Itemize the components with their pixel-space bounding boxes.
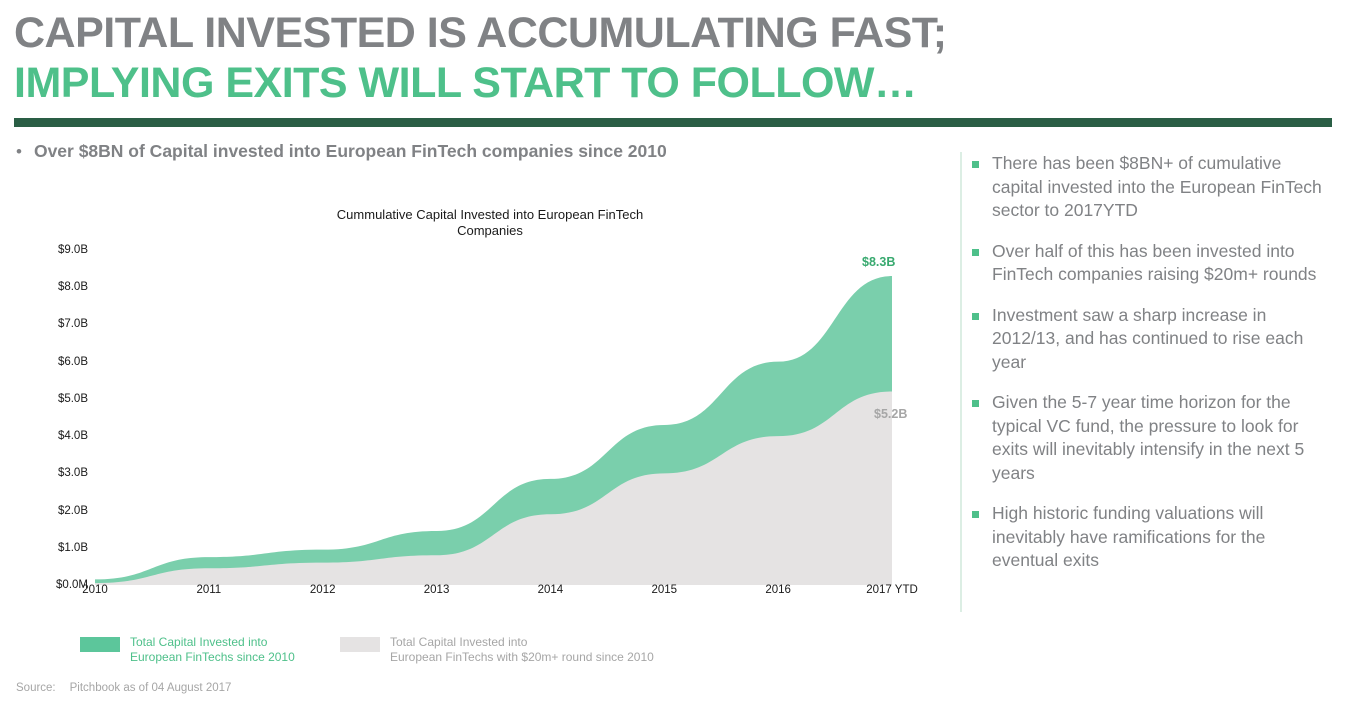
insight-bullet-text: There has been $8BN+ of cumulative capit… bbox=[992, 152, 1334, 223]
chart-title: Cummulative Capital Invested into Europe… bbox=[330, 207, 650, 239]
y-axis-tick-label: $5.0B bbox=[16, 393, 88, 405]
chart-x-axis: 20102011201220132014201520162017 YTD bbox=[95, 583, 892, 607]
legend-swatch-green-icon bbox=[80, 637, 120, 652]
source-text: Pitchbook as of 04 August 2017 bbox=[70, 681, 232, 695]
x-axis-tick-label: 2015 bbox=[651, 583, 677, 597]
y-axis-tick-label: $3.0B bbox=[16, 467, 88, 479]
page-title: CAPITAL INVESTED IS ACCUMULATING FAST; I… bbox=[14, 8, 1334, 108]
legend-label-total-capital: Total Capital Invested into European Fin… bbox=[130, 635, 295, 665]
chart-panel: Cummulative Capital Invested into Europe… bbox=[0, 175, 950, 695]
lead-bullet-text: Over $8BN of Capital invested into Europ… bbox=[34, 140, 667, 162]
legend-item-total-capital: Total Capital Invested into European Fin… bbox=[80, 635, 295, 665]
insight-bullet: Investment saw a sharp increase in 2012/… bbox=[972, 304, 1334, 375]
insight-bullet: Over half of this has been invested into… bbox=[972, 240, 1334, 287]
data-label-large-rounds: $5.2B bbox=[874, 407, 907, 421]
slide: CAPITAL INVESTED IS ACCUMULATING FAST; I… bbox=[0, 0, 1346, 702]
x-axis-tick-label: 2012 bbox=[310, 583, 336, 597]
insight-bullet: High historic funding valuations will in… bbox=[972, 502, 1334, 573]
x-axis-tick-label: 2017 YTD bbox=[866, 583, 918, 597]
y-axis-tick-label: $6.0B bbox=[16, 356, 88, 368]
insight-bullet: Given the 5-7 year time horizon for the … bbox=[972, 391, 1334, 485]
lead-bullet: • Over $8BN of Capital invested into Eur… bbox=[16, 140, 916, 162]
insight-bullet: There has been $8BN+ of cumulative capit… bbox=[972, 152, 1334, 223]
bullet-square-icon bbox=[972, 161, 979, 168]
x-axis-tick-label: 2011 bbox=[196, 583, 221, 597]
title-line-secondary: IMPLYING EXITS WILL START TO FOLLOW… bbox=[14, 58, 1334, 108]
x-axis-tick-label: 2014 bbox=[538, 583, 564, 597]
legend-label-large-rounds: Total Capital Invested into European Fin… bbox=[390, 635, 654, 665]
insights-bullet-list: There has been $8BN+ of cumulative capit… bbox=[972, 152, 1334, 590]
x-axis-tick-label: 2016 bbox=[765, 583, 791, 597]
bullet-square-icon bbox=[972, 511, 979, 518]
source-label: Source: bbox=[16, 681, 56, 695]
insight-bullet-text: Over half of this has been invested into… bbox=[992, 240, 1334, 287]
x-axis-tick-label: 2013 bbox=[424, 583, 450, 597]
chart-plot-area bbox=[95, 250, 892, 585]
bullet-square-icon bbox=[972, 249, 979, 256]
data-label-total-capital: $8.3B bbox=[862, 255, 895, 269]
legend-item-large-rounds: Total Capital Invested into European Fin… bbox=[340, 635, 654, 665]
bullet-square-icon bbox=[972, 400, 979, 407]
y-axis-tick-label: $2.0B bbox=[16, 505, 88, 517]
source-note: Source: Pitchbook as of 04 August 2017 bbox=[16, 681, 231, 695]
y-axis-tick-label: $7.0B bbox=[16, 318, 88, 330]
y-axis-tick-label: $0.0M bbox=[16, 579, 88, 591]
insight-bullet-text: High historic funding valuations will in… bbox=[992, 502, 1334, 573]
x-axis-tick-label: 2010 bbox=[82, 583, 108, 597]
insight-bullet-text: Given the 5-7 year time horizon for the … bbox=[992, 391, 1334, 485]
y-axis-tick-label: $4.0B bbox=[16, 430, 88, 442]
chart-legend: Total Capital Invested into European Fin… bbox=[0, 635, 950, 685]
y-axis-tick-label: $8.0B bbox=[16, 281, 88, 293]
y-axis-tick-label: $9.0B bbox=[16, 244, 88, 256]
bullet-dot-icon: • bbox=[16, 142, 22, 162]
title-divider-rule bbox=[14, 118, 1332, 127]
legend-swatch-gray-icon bbox=[340, 637, 380, 652]
vertical-divider bbox=[960, 152, 962, 612]
bullet-square-icon bbox=[972, 313, 979, 320]
area-chart-svg bbox=[95, 250, 892, 585]
y-axis-tick-label: $1.0B bbox=[16, 542, 88, 554]
title-line-primary: CAPITAL INVESTED IS ACCUMULATING FAST; bbox=[14, 8, 1334, 58]
chart-y-axis: $9.0B$8.0B$7.0B$6.0B$5.0B$4.0B$3.0B$2.0B… bbox=[0, 250, 88, 590]
insight-bullet-text: Investment saw a sharp increase in 2012/… bbox=[992, 304, 1334, 375]
